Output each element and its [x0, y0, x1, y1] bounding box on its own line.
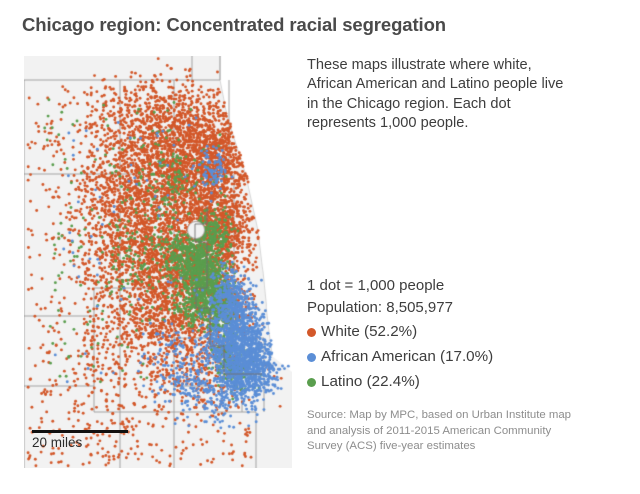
infographic-root: Chicago region: Concentrated racial segr…	[0, 0, 640, 494]
side-panel: These maps illustrate where white, Afric…	[307, 56, 627, 476]
legend-dot-icon-latino	[307, 378, 316, 387]
legend-label-latino: Latino (22.4%)	[321, 369, 420, 394]
dot-density-map[interactable]	[24, 56, 292, 468]
legend-item-latino[interactable]: Latino (22.4%)	[307, 369, 607, 394]
legend-dot-icon-african-american	[307, 353, 316, 362]
legend-dot-value: 1 dot = 1,000 people	[307, 275, 607, 297]
source-note: Source: Map by MPC, based on Urban Insti…	[307, 408, 575, 455]
legend-label-white: White (52.2%)	[321, 319, 417, 344]
legend-population: Population: 8,505,977	[307, 297, 607, 319]
legend-item-african-american[interactable]: African American (17.0%)	[307, 344, 607, 369]
map-canvas[interactable]	[24, 56, 292, 468]
legend-item-white[interactable]: White (52.2%)	[307, 319, 607, 344]
legend-label-african-american: African American (17.0%)	[321, 344, 493, 369]
page-title: Chicago region: Concentrated racial segr…	[22, 14, 622, 36]
legend-dot-icon-white	[307, 328, 316, 337]
legend: 1 dot = 1,000 people Population: 8,505,9…	[307, 275, 607, 394]
intro-text: These maps illustrate where white, Afric…	[307, 56, 565, 134]
